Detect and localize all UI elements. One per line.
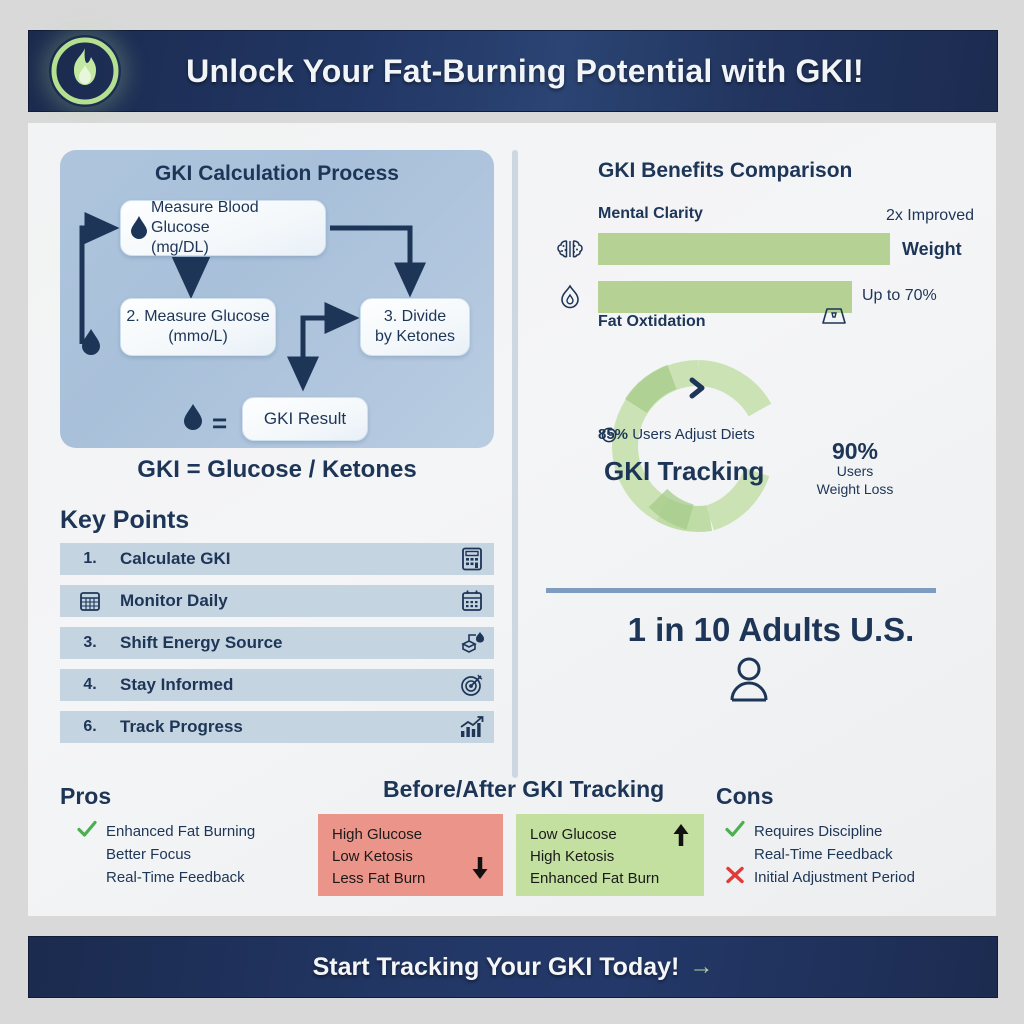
cons-item: Requires Discipline <box>754 820 915 843</box>
key-points-title: Key Points <box>60 506 189 535</box>
benefits-value-mental-clarity: 2x Improved <box>886 207 974 225</box>
check-icon <box>76 819 98 846</box>
before-line2: Low Ketosis <box>332 846 489 868</box>
flow-node-line2: (mg/DL) <box>151 239 209 256</box>
key-point-row[interactable]: 1. Calculate GKI <box>60 543 494 575</box>
flow-node-line2: by Ketones <box>375 328 455 345</box>
header-banner: Unlock Your Fat-Burning Potential with G… <box>28 30 998 112</box>
check-icon <box>724 819 746 846</box>
side-stat-line1: Users <box>800 463 910 481</box>
blood-drop-icon <box>129 215 149 241</box>
target-icon <box>450 673 494 697</box>
blood-drop-icon <box>182 403 204 431</box>
brain-icon <box>556 237 584 268</box>
before-line3: Less Fat Burn <box>332 868 489 890</box>
before-line1: High Glucose <box>332 824 489 846</box>
side-stat-line2: Weight Loss <box>800 481 910 499</box>
benefits-title: GKI Benefits Comparison <box>598 159 852 183</box>
pros-item: Enhanced Fat Burning <box>106 820 255 843</box>
key-point-label: Calculate GKI <box>120 549 450 569</box>
after-line3: Enhanced Fat Burn <box>530 868 690 890</box>
footer-cta-text: Start Tracking Your GKI Today! <box>313 953 680 982</box>
flow-node-line1: Measure Blood Glucose <box>151 199 259 236</box>
benefits-value-fat-oxidation: Up to 70% <box>862 287 937 305</box>
key-point-label: Shift Energy Source <box>120 633 450 653</box>
pros-item-text: Enhanced Fat Burning <box>106 823 255 840</box>
equals-sign: = <box>212 408 227 439</box>
cons-item: Initial Adjustment Period <box>754 866 915 889</box>
key-point-label: Stay Informed <box>120 675 450 695</box>
key-point-row[interactable]: 6. Track Progress <box>60 711 494 743</box>
horizontal-divider <box>546 588 936 593</box>
content-card: GKI Calculation Process <box>28 123 996 916</box>
flow-node-divide-by-ketones: 3. Divide by Ketones <box>360 298 470 356</box>
key-point-row[interactable]: 3. Shift Energy Source <box>60 627 494 659</box>
side-stat-value: 90% <box>800 439 910 463</box>
key-point-number: 3. <box>60 634 120 652</box>
donut-stat-line: 85% Users Adjust Diets <box>598 426 755 443</box>
gki-formula: GKI = Glucose / Ketones <box>60 456 494 484</box>
chart-up-icon <box>450 715 494 739</box>
key-point-row[interactable]: Monitor Daily <box>60 585 494 617</box>
flowchart-panel: GKI Calculation Process <box>60 150 494 448</box>
key-point-label: Monitor Daily <box>120 591 450 611</box>
flow-node-line1: GKI Result <box>264 408 346 429</box>
before-after-title: Before/After GKI Tracking <box>383 776 664 803</box>
key-points-list: 1. Calculate GKI Monitor Daily 3. Shift … <box>60 543 494 753</box>
person-icon <box>728 656 770 707</box>
flow-node-line2: (mmo/L) <box>168 328 228 345</box>
cons-list: Requires Discipline Real-Time Feedback I… <box>754 820 915 889</box>
donut-center-label: GKI Tracking <box>604 456 764 487</box>
pros-item-text: Real-Time Feedback <box>106 869 245 886</box>
calendar-icon <box>60 590 120 612</box>
vertical-divider <box>512 150 518 778</box>
side-stat-weight-loss: 90% Users Weight Loss <box>800 439 910 498</box>
cons-item-text: Initial Adjustment Period <box>754 869 915 886</box>
benefits-bar-fat-oxidation <box>598 281 852 313</box>
flow-node-measure-blood-glucose: Measure Blood Glucose (mg/DL) <box>120 200 326 256</box>
cons-item-text: Requires Discipline <box>754 823 882 840</box>
benefits-label-weight: Weight <box>902 239 962 260</box>
blood-drop-icon <box>80 328 102 356</box>
benefits-bar-mental-clarity <box>598 233 890 265</box>
cons-title: Cons <box>716 783 774 810</box>
cons-item: Real-Time Feedback <box>754 843 915 866</box>
weight-scale-icon <box>820 305 848 332</box>
flow-node-line1: 3. Divide <box>384 308 446 325</box>
key-point-number: 4. <box>60 676 120 694</box>
adults-stat-text: 1 in 10 Adults U.S. <box>546 611 996 649</box>
arrow-down-icon <box>471 855 489 888</box>
gki-tracking-donut-chart <box>610 358 786 534</box>
cons-item-text: Real-Time Feedback <box>754 846 893 863</box>
donut-stat-value: 85% <box>598 426 628 443</box>
pros-item: Real-Time Feedback <box>106 866 255 889</box>
flow-node-line1: 2. Measure Glucose <box>126 308 269 325</box>
after-line2: High Ketosis <box>530 846 690 868</box>
cross-icon <box>724 865 746 892</box>
flow-node-measure-glucose-mmol: 2. Measure Glucose (mmo/L) <box>120 298 276 356</box>
flow-node-gki-result: GKI Result <box>242 397 368 441</box>
pros-item: Better Focus <box>106 843 255 866</box>
footer-cta-bar[interactable]: Start Tracking Your GKI Today! → <box>28 936 998 998</box>
after-line1: Low Glucose <box>530 824 690 846</box>
before-box: High Glucose Low Ketosis Less Fat Burn <box>318 814 503 896</box>
infographic-root: Unlock Your Fat-Burning Potential with G… <box>0 0 1024 1024</box>
header-title: Unlock Your Fat-Burning Potential with G… <box>29 53 997 90</box>
key-point-number: 1. <box>60 550 120 568</box>
calculator-icon <box>450 547 494 571</box>
arrow-right-icon: → <box>689 953 713 981</box>
key-point-row[interactable]: 4. Stay Informed <box>60 669 494 701</box>
after-box: Low Glucose High Ketosis Enhanced Fat Bu… <box>516 814 704 896</box>
calendar-icon <box>450 589 494 613</box>
donut-stat-text: Users Adjust Diets <box>632 426 755 443</box>
pros-item-text: Better Focus <box>106 846 191 863</box>
arrow-up-icon <box>672 822 690 855</box>
energy-box-flame-icon <box>450 630 494 656</box>
flame-logo-icon <box>49 35 121 107</box>
pros-list: Enhanced Fat Burning Better Focus Real-T… <box>106 820 255 889</box>
benefits-label-fat-oxidation: Fat Oxtidation <box>598 313 706 331</box>
key-point-label: Track Progress <box>120 717 450 737</box>
flame-icon <box>556 283 584 316</box>
pros-title: Pros <box>60 783 111 810</box>
benefits-label-mental-clarity: Mental Clarity <box>598 205 703 223</box>
key-point-number: 6. <box>60 718 120 736</box>
